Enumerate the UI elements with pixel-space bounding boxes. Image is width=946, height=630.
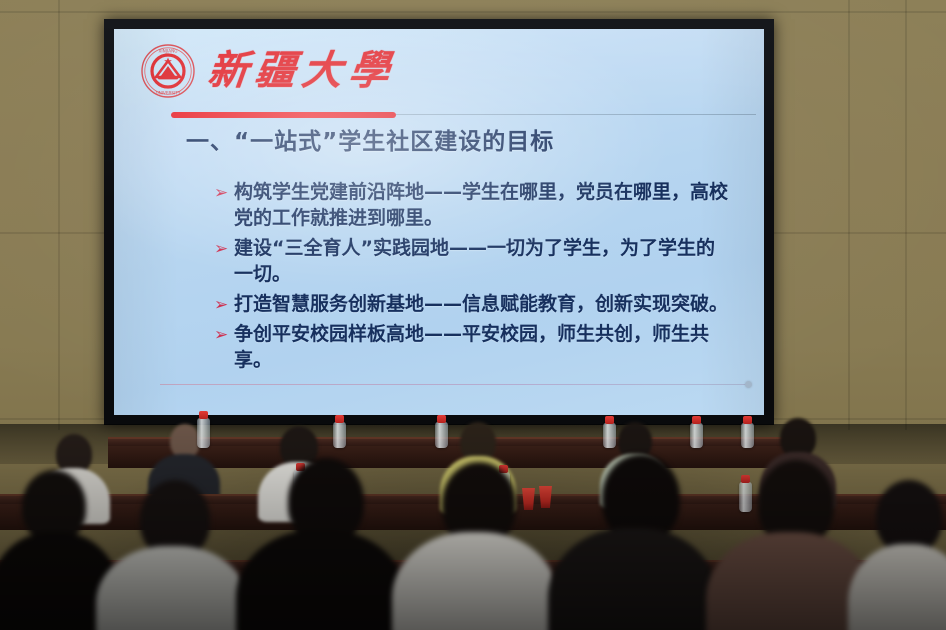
bullet-item: ➢ 建设“三全育人”实践园地——一切为了学生，为了学生的一切。 [214,235,730,287]
lecture-hall-photo: XINJIANG UNIVERSITY 新疆大學 一、“一站式”学生社区建设的目… [0,0,946,630]
university-wordmark: 新疆大學 [206,51,398,91]
water-bottle [690,423,703,448]
slide-title: 一、“一站式”学生社区建设的目标 [186,128,554,157]
svg-text:UNIVERSITY: UNIVERSITY [156,91,181,96]
audience-member [548,454,718,630]
projection-screen: XINJIANG UNIVERSITY 新疆大學 一、“一站式”学生社区建设的目… [114,29,764,415]
slide-bullet-list: ➢ 构筑学生党建前沿阵地——学生在哪里，党员在哪里，高校党的工作就推进到哪里。 … [214,179,730,377]
projection-screen-bezel: XINJIANG UNIVERSITY 新疆大學 一、“一站式”学生社区建设的目… [104,19,774,425]
arrow-bullet-icon: ➢ [214,236,234,262]
arrow-bullet-icon: ➢ [214,322,234,348]
bullet-text: 争创平安校园样板高地——平安校园，师生共创，师生共享。 [234,321,730,373]
bullet-item: ➢ 构筑学生党建前沿阵地——学生在哪里，党员在哪里，高校党的工作就推进到哪里。 [214,179,730,231]
slide-decorative-line [160,384,748,385]
header-thin-rule [396,114,756,115]
xinjiang-university-seal-icon: XINJIANG UNIVERSITY [140,43,196,99]
water-bottle [197,418,210,448]
presentation-slide: XINJIANG UNIVERSITY 新疆大學 一、“一站式”学生社区建设的目… [114,29,764,415]
slide-decorative-dot [745,381,752,388]
bullet-item: ➢ 打造智慧服务创新基地——信息赋能教育，创新实现突破。 [214,291,730,317]
bullet-item: ➢ 争创平安校园样板高地——平安校园，师生共创，师生共享。 [214,321,730,373]
audience-member [392,462,558,630]
svg-text:XINJIANG: XINJIANG [159,48,178,53]
bullet-text: 构筑学生党建前沿阵地——学生在哪里，党员在哪里，高校党的工作就推进到哪里。 [234,179,730,231]
slide-header: XINJIANG UNIVERSITY 新疆大學 [140,43,396,99]
audience-member [96,480,248,630]
audience-member [236,458,406,630]
audience-member [848,480,946,630]
bullet-text: 打造智慧服务创新基地——信息赋能教育，创新实现突破。 [234,291,728,317]
arrow-bullet-icon: ➢ [214,292,234,318]
bullet-text: 建设“三全育人”实践园地——一切为了学生，为了学生的一切。 [234,235,730,287]
arrow-bullet-icon: ➢ [214,180,234,206]
header-red-rule [171,112,396,118]
water-bottle [741,423,754,448]
